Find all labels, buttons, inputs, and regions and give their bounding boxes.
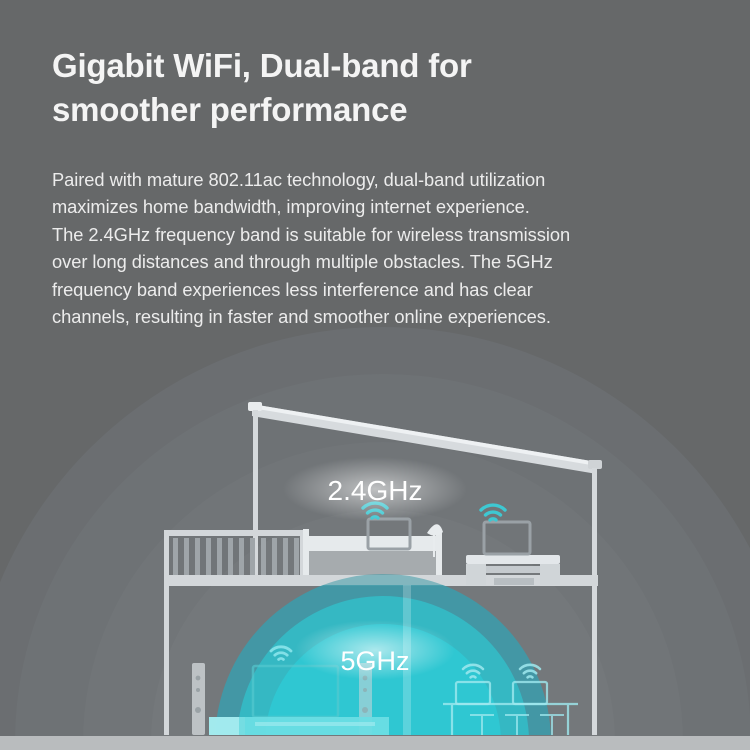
ground-floor	[0, 736, 750, 750]
wall-right	[592, 468, 597, 735]
wall-left-lower	[164, 580, 169, 735]
body-paragraph: Paired with mature 802.11ac technology, …	[52, 166, 702, 330]
promo-banner: 2.4GHz 5GHz Gigabit WiFi, Dual-band for …	[0, 0, 750, 750]
page-title: Gigabit WiFi, Dual-band for smoother per…	[52, 44, 692, 132]
label-2-4ghz: 2.4GHz	[328, 475, 423, 506]
speaker-left	[192, 663, 205, 735]
label-5ghz: 5GHz	[340, 646, 409, 676]
